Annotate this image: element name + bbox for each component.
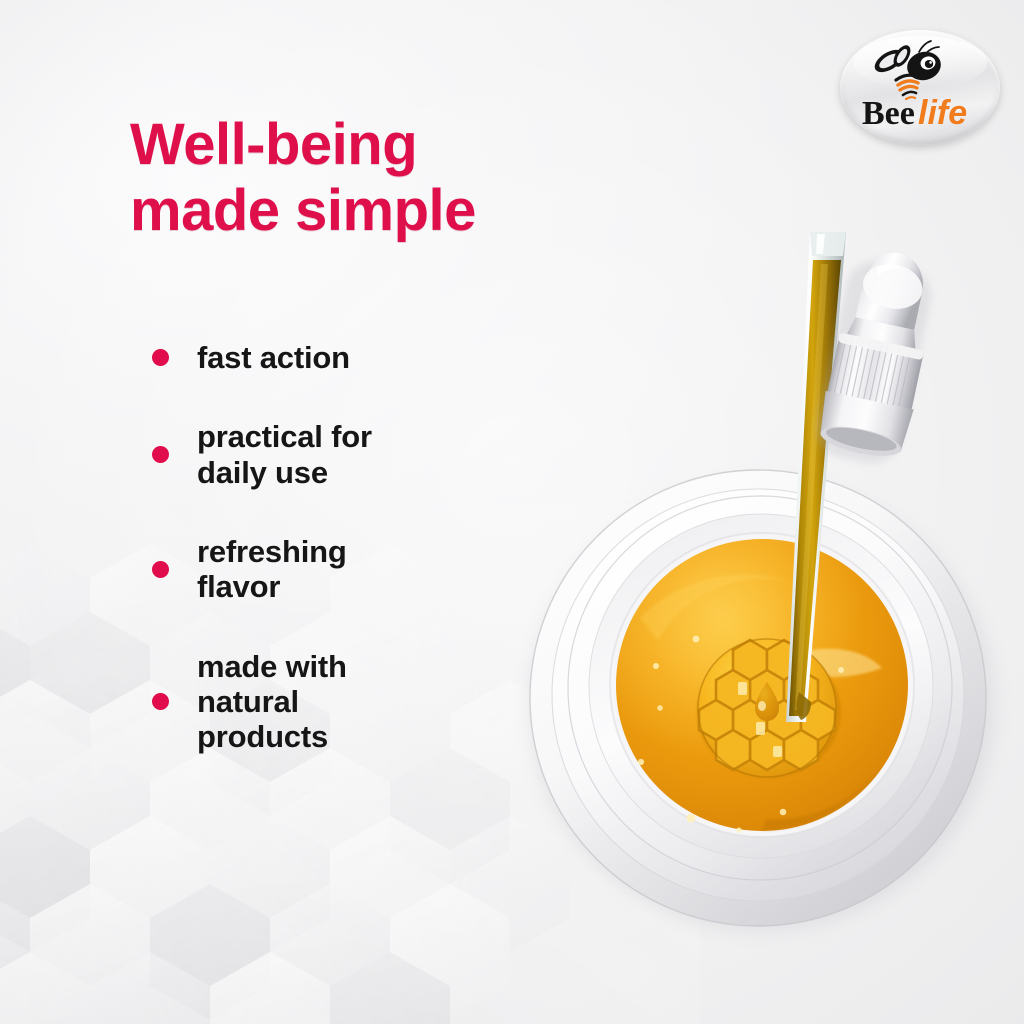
logo-text-life: life bbox=[918, 94, 967, 132]
benefit-item-natural-products: made with natural products bbox=[152, 649, 482, 755]
logo-text-bee: Bee bbox=[862, 95, 915, 132]
bee-icon bbox=[871, 41, 944, 99]
benefits-list: fast action practical for daily use refr… bbox=[152, 340, 482, 799]
bullet-dot-icon bbox=[152, 693, 169, 710]
bullet-dot-icon bbox=[152, 349, 169, 366]
benefit-label: fast action bbox=[197, 340, 350, 375]
dropper-assembly bbox=[790, 250, 970, 520]
bullet-dot-icon bbox=[152, 561, 169, 578]
brand-logo[interactable]: Bee life bbox=[840, 30, 1000, 145]
page-title: Well-being made simple bbox=[130, 112, 476, 243]
bullet-dot-icon bbox=[152, 446, 169, 463]
benefit-item-fast-action: fast action bbox=[152, 340, 482, 375]
benefit-label: practical for daily use bbox=[197, 419, 372, 490]
benefit-item-refreshing-flavor: refreshing flavor bbox=[152, 534, 482, 605]
benefit-label: refreshing flavor bbox=[197, 534, 347, 605]
poster-canvas: Well-being made simple fast action pract… bbox=[0, 0, 1024, 1024]
benefit-item-practical: practical for daily use bbox=[152, 419, 482, 490]
benefit-label: made with natural products bbox=[197, 649, 347, 755]
